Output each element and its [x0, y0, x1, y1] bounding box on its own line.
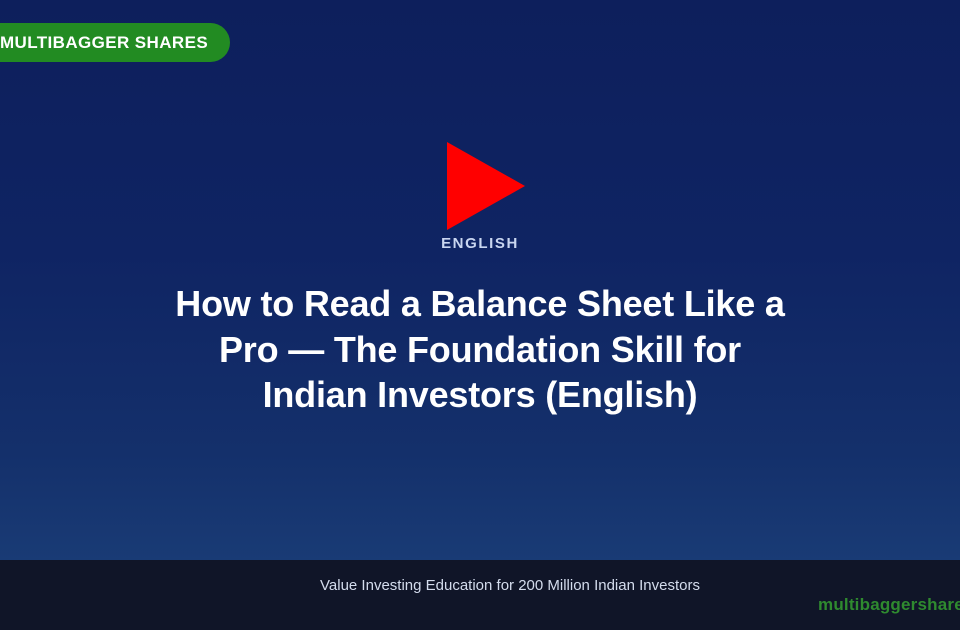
video-thumbnail-slide: MULTIBAGGER SHARES ENGLISH How to Read a…: [0, 0, 960, 630]
page-title: How to Read a Balance Sheet Like a Pro —…: [175, 281, 784, 418]
site-logo-text[interactable]: multibaggershares.com: [818, 596, 960, 613]
footer-bar: Value Investing Education for 200 Millio…: [0, 560, 960, 630]
title-line-3: Indian Investors (English): [175, 372, 784, 418]
slide-center-content: ENGLISH How to Read a Balance Sheet Like…: [0, 0, 960, 560]
language-label: ENGLISH: [441, 236, 519, 251]
title-line-2: Pro — The Foundation Skill for: [175, 327, 784, 373]
play-triangle-icon[interactable]: [447, 142, 525, 230]
footer-tagline: Value Investing Education for 200 Millio…: [0, 578, 960, 593]
title-line-1: How to Read a Balance Sheet Like a: [175, 281, 784, 327]
